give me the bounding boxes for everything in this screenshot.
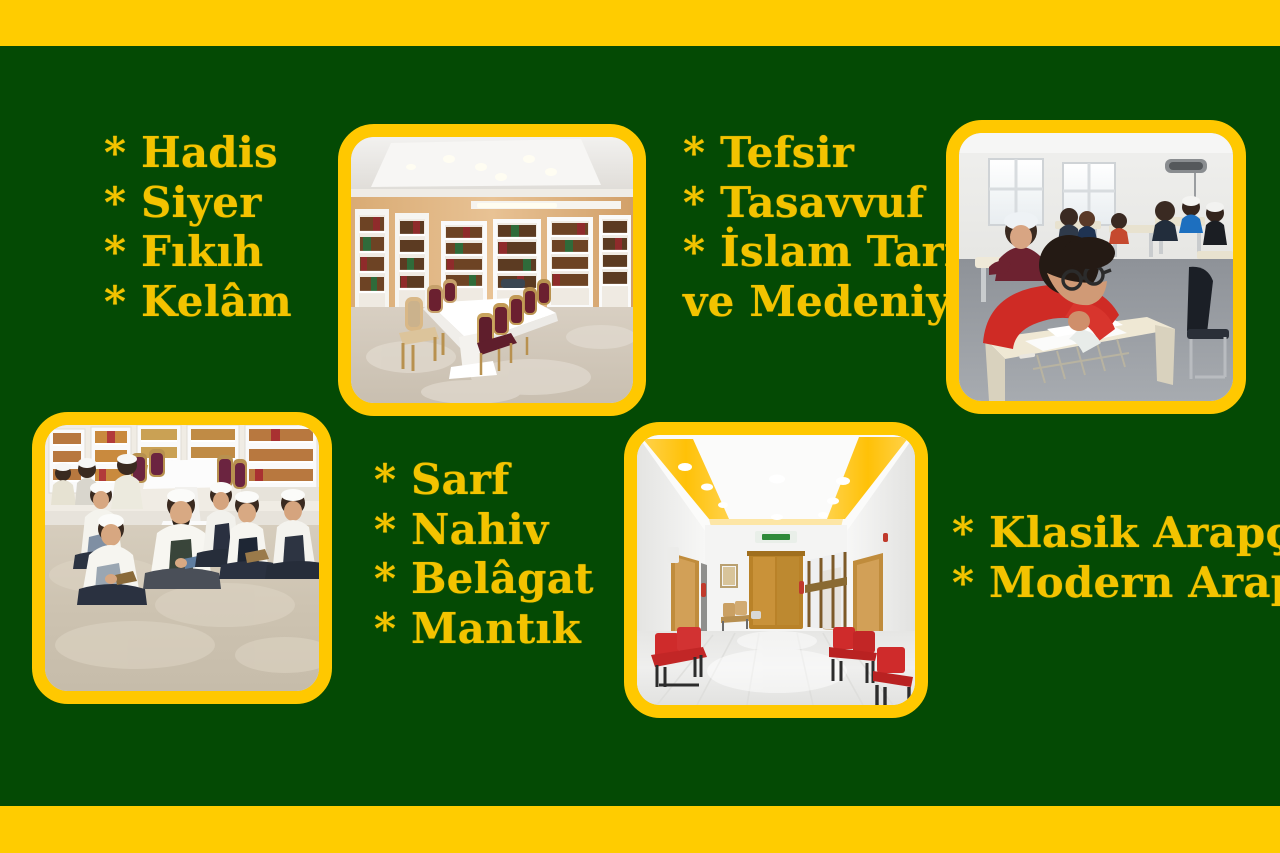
subject-group-grammar: * Sarf * Nahiv * Belâgat * Mantık — [374, 455, 594, 653]
library-photo-frame — [338, 124, 646, 416]
subject-group-arabic: * Klasik Arapça * Modern Arapça — [952, 508, 1280, 607]
library-photo — [351, 137, 633, 403]
subject-item: * Kelâm — [104, 277, 292, 327]
classroom-exam-photo — [959, 133, 1233, 401]
corridor-photo — [637, 435, 915, 705]
students-photo-frame — [32, 412, 332, 704]
subject-item: * Modern Arapça — [952, 558, 1280, 608]
corridor-photo-frame — [624, 422, 928, 718]
subject-item: * Belâgat — [374, 554, 594, 604]
subject-item: * Sarf — [374, 455, 594, 505]
subject-item: * Hadis — [104, 128, 292, 178]
subject-item: * Siyer — [104, 178, 292, 228]
subject-group-hadith: * Hadis * Siyer * Fıkıh * Kelâm — [104, 128, 292, 326]
subject-item: * Nahiv — [374, 505, 594, 555]
subject-item: * Klasik Arapça — [952, 508, 1280, 558]
classroom-photo-frame — [946, 120, 1246, 414]
bottom-accent-bar — [0, 806, 1280, 853]
subject-item: * Fıkıh — [104, 227, 292, 277]
poster-root: * Hadis * Siyer * Fıkıh * Kelâm * Tefsir… — [0, 0, 1280, 853]
subject-item: * Mantık — [374, 604, 594, 654]
students-seated-photo — [45, 425, 319, 691]
top-accent-bar — [0, 0, 1280, 46]
